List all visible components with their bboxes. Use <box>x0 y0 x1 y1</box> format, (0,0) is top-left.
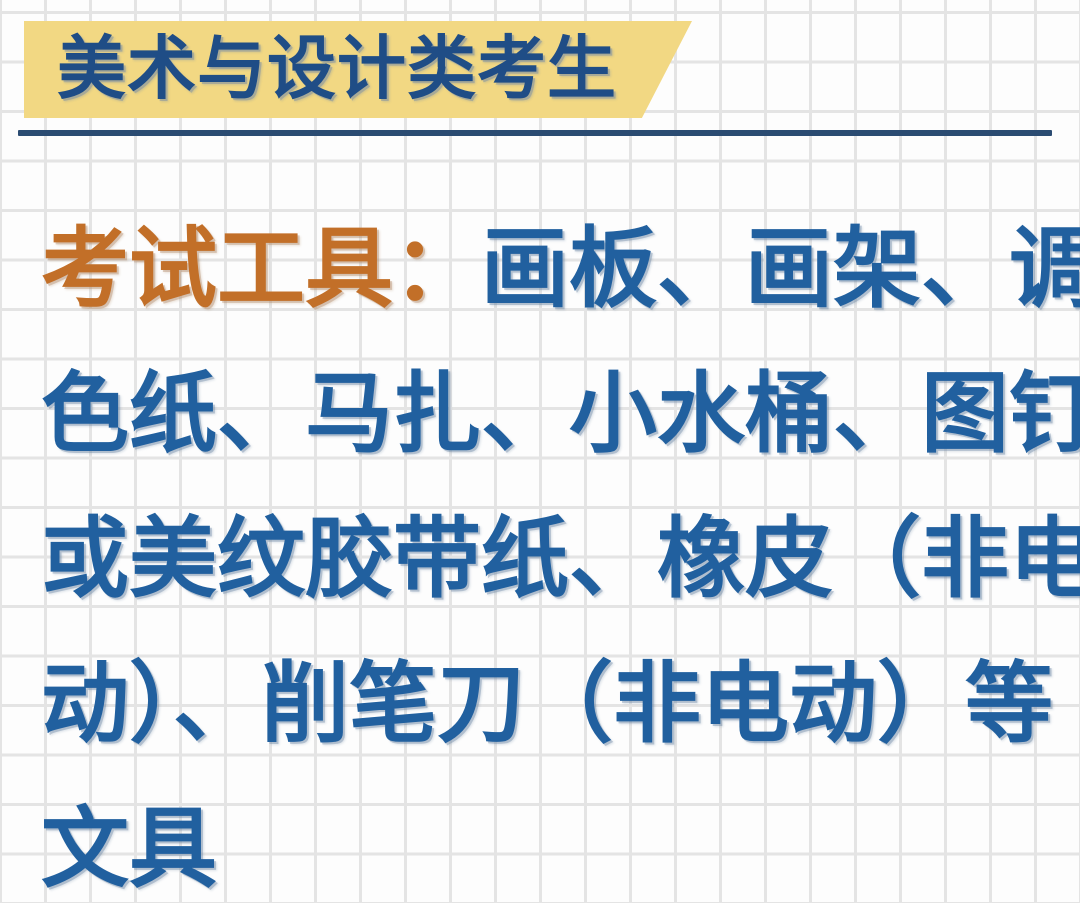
content-line-5-text: 文具 <box>41 797 217 900</box>
header-banner: 美术与设计类考生 <box>24 21 692 118</box>
content-line-2-text: 色纸、马扎、小水桶、图钉 <box>41 362 1080 465</box>
header-divider-rule <box>18 130 1052 136</box>
poster-page: 美术与设计类考生 考试工具：画板、画架、调 色纸、马扎、小水桶、图钉 或美纹胶带… <box>0 0 1080 903</box>
content-line-3-text: 或美纹胶带纸、橡皮（非电 <box>41 507 1080 610</box>
content-line-2: 色纸、马扎、小水桶、图钉 <box>41 341 1051 486</box>
content-line-1: 考试工具：画板、画架、调 <box>41 196 1051 341</box>
content-line-1-text: 画板、画架、调 <box>481 217 1080 320</box>
content-line-4: 动）、削笔刀（非电动）等 <box>41 631 1051 776</box>
content-line-3: 或美纹胶带纸、橡皮（非电 <box>41 486 1051 631</box>
content-body: 考试工具：画板、画架、调 色纸、马扎、小水桶、图钉 或美纹胶带纸、橡皮（非电 动… <box>41 196 1051 903</box>
banner-title: 美术与设计类考生 <box>57 35 617 104</box>
content-label-accent: 考试工具： <box>41 217 481 320</box>
content-line-4-text: 动）、削笔刀（非电动）等 <box>41 652 1053 755</box>
content-line-5: 文具 <box>41 776 1051 903</box>
